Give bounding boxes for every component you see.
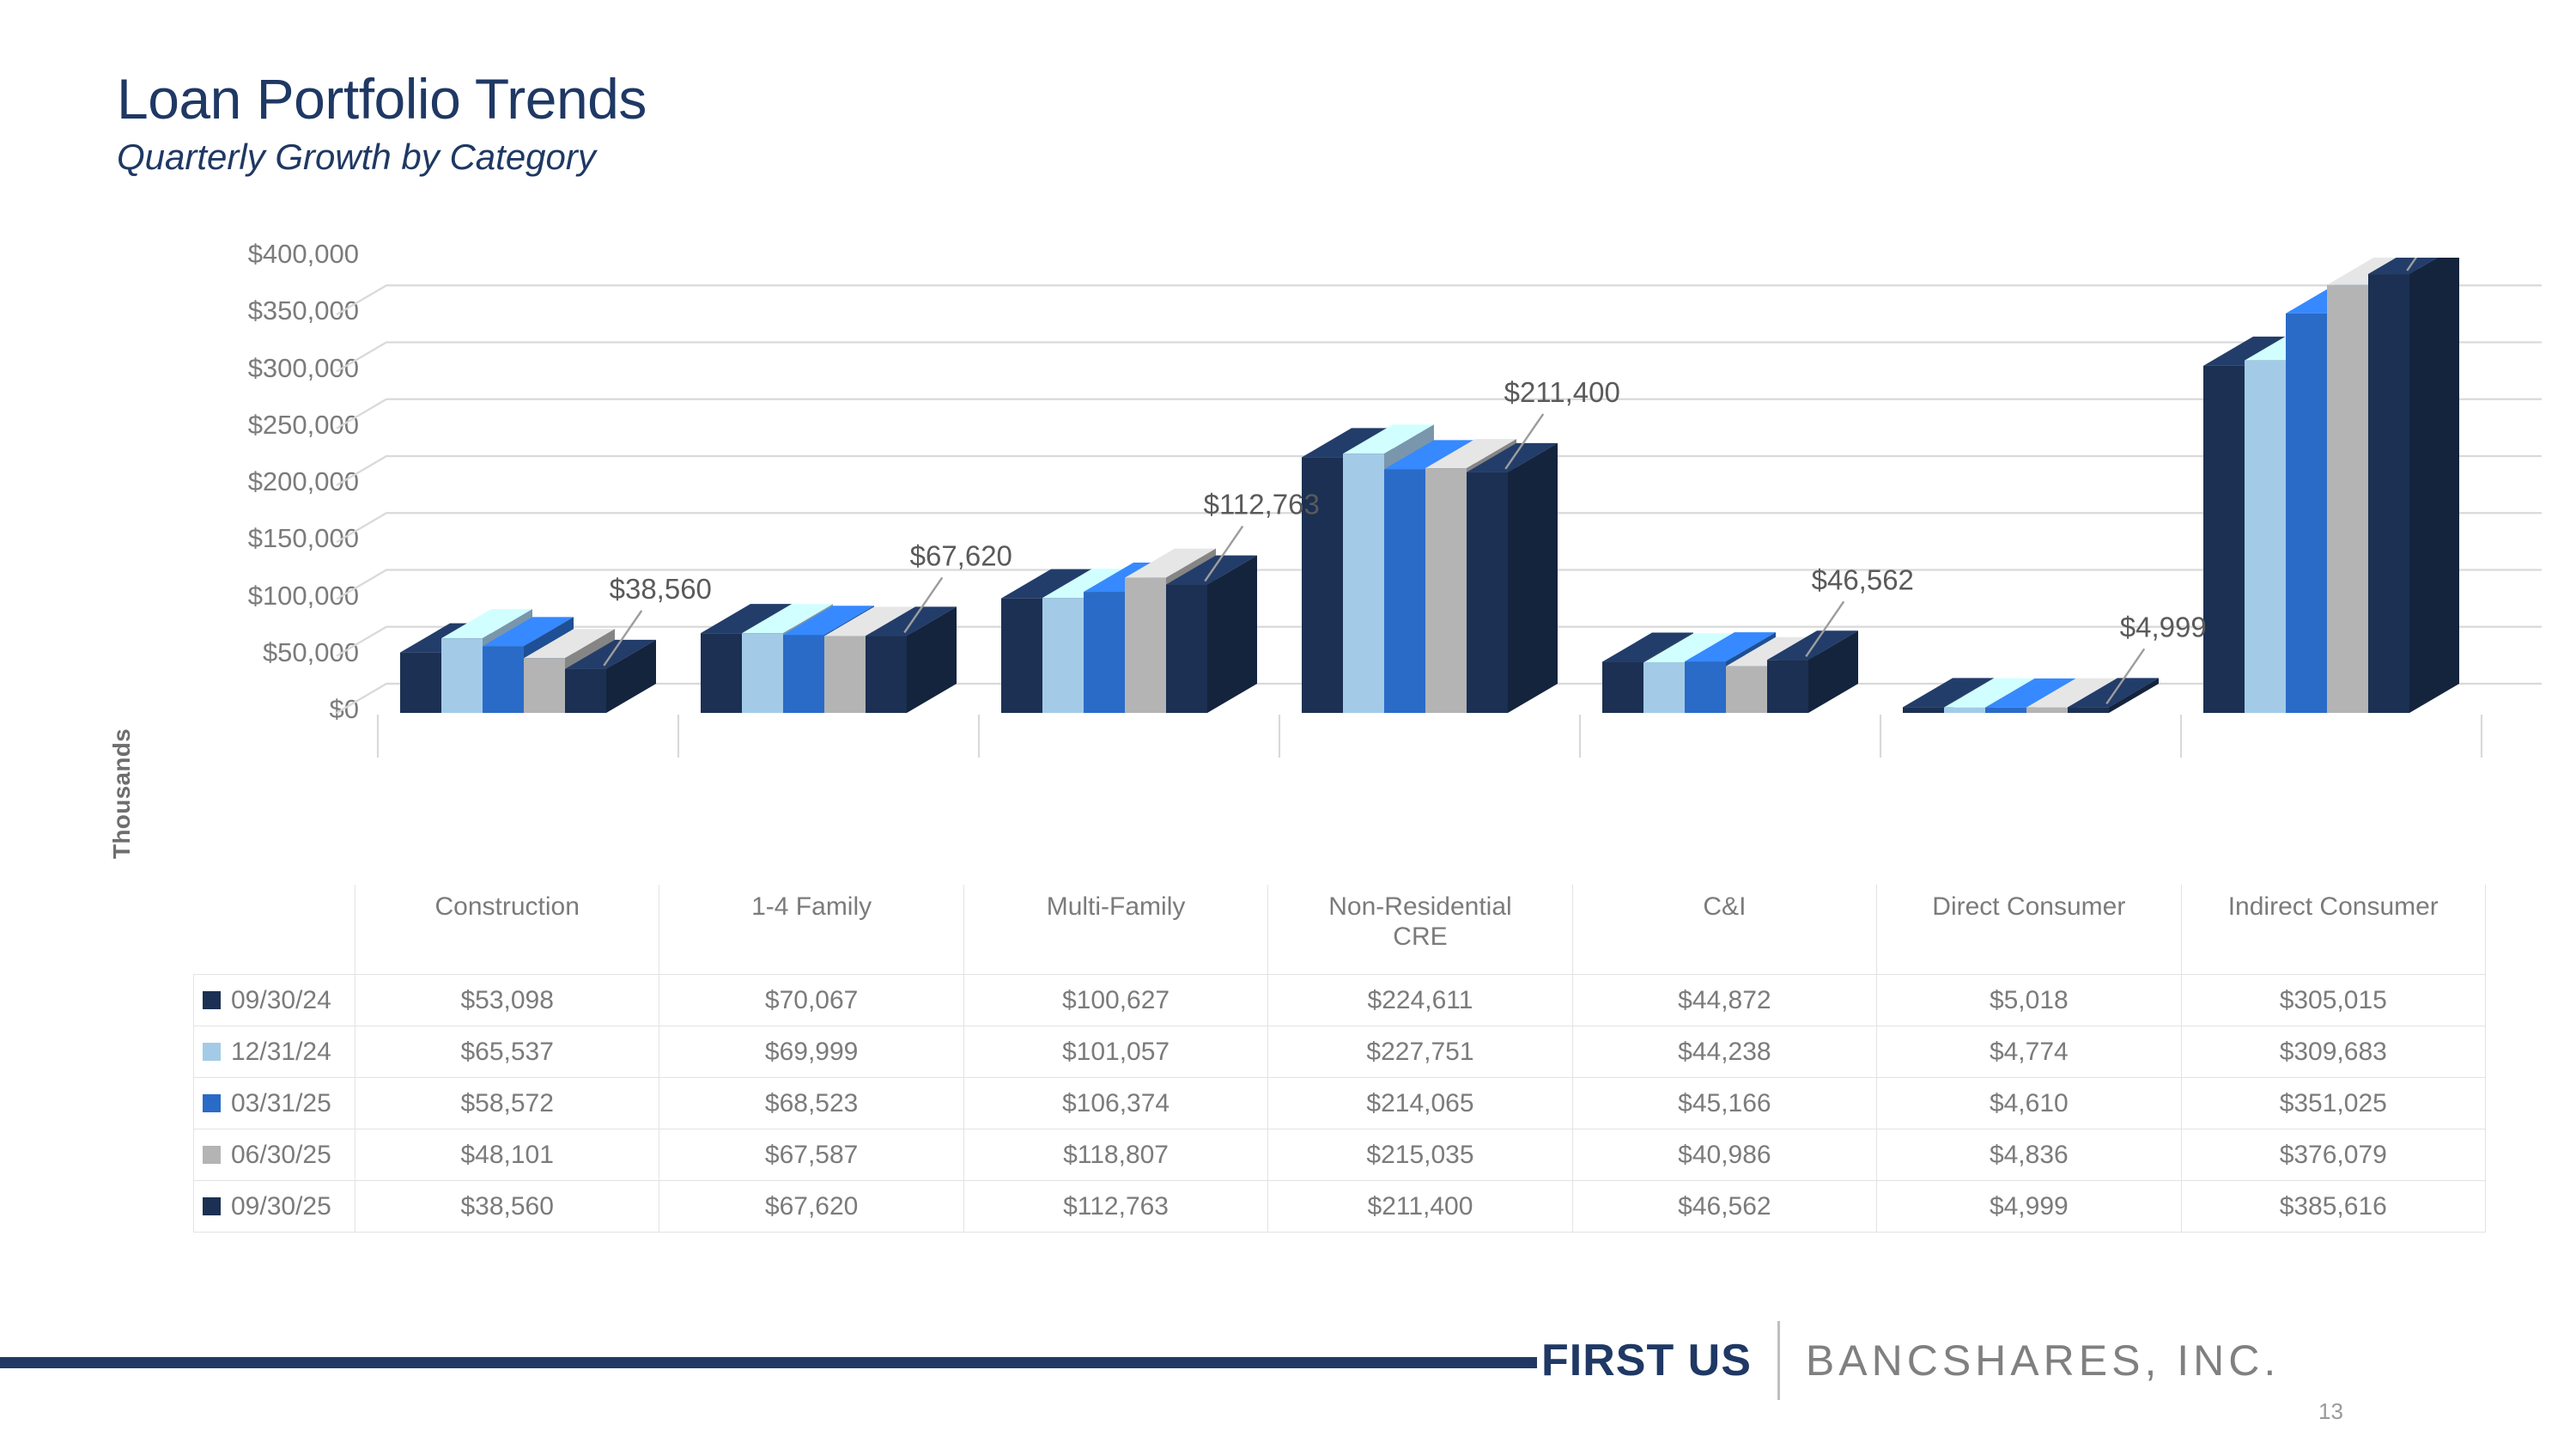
- table-cell-value: $40,986: [1572, 1129, 1876, 1181]
- table-category-header: Construction: [355, 885, 659, 975]
- table-row: 09/30/24$53,098$70,067$100,627$224,611$4…: [194, 975, 2486, 1026]
- bar-value-annotation: $46,562: [1812, 563, 1914, 595]
- table-row: 09/30/25$38,560$67,620$112,763$211,400$4…: [194, 1181, 2486, 1233]
- legend-entry: 09/30/25: [194, 1181, 355, 1233]
- table-cell-value: $4,836: [1877, 1129, 2181, 1181]
- table-cell-value: $376,079: [2181, 1129, 2485, 1181]
- bar-value-annotation: $112,763: [1204, 489, 1320, 521]
- table-cell-value: $65,537: [355, 1026, 659, 1078]
- table-cell-value: $67,587: [659, 1129, 963, 1181]
- table-cell-value: $211,400: [1268, 1181, 1572, 1233]
- table-cell-value: $44,872: [1572, 975, 1876, 1026]
- legend-swatch: [203, 991, 221, 1009]
- table-row: 06/30/25$48,101$67,587$118,807$215,035$4…: [194, 1129, 2486, 1181]
- table-cell-value: $385,616: [2181, 1181, 2485, 1233]
- table-cell-value: $68,523: [659, 1078, 963, 1129]
- table-category-header: Indirect Consumer: [2181, 885, 2485, 975]
- table-cell-value: $4,774: [1877, 1026, 2181, 1078]
- table-category-header: Multi-Family: [963, 885, 1267, 975]
- table-cell-value: $106,374: [963, 1078, 1267, 1129]
- chart-data-table-wrapper: Construction1-4 FamilyMulti-FamilyNon-Re…: [193, 885, 2486, 1233]
- logo-secondary-text: BANCSHARES, INC.: [1780, 1336, 2280, 1385]
- legend-entry: 03/31/25: [194, 1078, 355, 1129]
- table-cell-value: $70,067: [659, 975, 963, 1026]
- title-block: Loan Portfolio Trends Quarterly Growth b…: [117, 70, 647, 175]
- bar-value-annotation: $211,400: [1504, 376, 1620, 408]
- legend-entry: 06/30/25: [194, 1129, 355, 1181]
- legend-label: 06/30/25: [231, 1141, 331, 1170]
- table-cell-value: $215,035: [1268, 1129, 1572, 1181]
- table-corner-cell: [194, 885, 355, 975]
- table-category-header: Direct Consumer: [1877, 885, 2181, 975]
- table-category-row: Construction1-4 FamilyMulti-FamilyNon-Re…: [194, 885, 2486, 975]
- page-title: Loan Portfolio Trends: [117, 70, 647, 127]
- table-cell-value: $214,065: [1268, 1078, 1572, 1129]
- logo-primary-text: FIRST US: [1541, 1335, 1777, 1386]
- page-number: 13: [2318, 1398, 2343, 1425]
- legend-label: 12/31/24: [231, 1038, 331, 1067]
- table-cell-value: $58,572: [355, 1078, 659, 1129]
- table-row: 12/31/24$65,537$69,999$101,057$227,751$4…: [194, 1026, 2486, 1078]
- legend-swatch: [203, 1197, 221, 1215]
- table-cell-value: $100,627: [963, 975, 1267, 1026]
- page-subtitle: Quarterly Growth by Category: [117, 139, 647, 175]
- table-cell-value: $5,018: [1877, 975, 2181, 1026]
- table-cell-value: $69,999: [659, 1026, 963, 1078]
- table-cell-value: $4,999: [1877, 1181, 2181, 1233]
- legend-label: 03/31/25: [231, 1089, 331, 1118]
- company-logo: FIRST US BANCSHARES, INC.: [1541, 1327, 2280, 1394]
- table-cell-value: $46,562: [1572, 1181, 1876, 1233]
- table-cell-value: $53,098: [355, 975, 659, 1026]
- table-cell-value: $351,025: [2181, 1078, 2485, 1129]
- table-cell-value: $118,807: [963, 1129, 1267, 1181]
- legend-entry: 12/31/24: [194, 1026, 355, 1078]
- table-cell-value: $227,751: [1268, 1026, 1572, 1078]
- table-cell-value: $4,610: [1877, 1078, 2181, 1129]
- table-category-header: 1-4 Family: [659, 885, 963, 975]
- chart-gridline: [337, 285, 2542, 314]
- table-cell-value: $45,166: [1572, 1078, 1876, 1129]
- table-category-header: Non-ResidentialCRE: [1268, 885, 1572, 975]
- bar-chart-plot: $38,560$67,620$112,763$211,400$46,562$4,…: [0, 258, 2576, 928]
- legend-swatch: [203, 1094, 221, 1112]
- legend-swatch: [203, 1146, 221, 1164]
- table-cell-value: $305,015: [2181, 975, 2485, 1026]
- table-cell-value: $309,683: [2181, 1026, 2485, 1078]
- table-cell-value: $112,763: [963, 1181, 1267, 1233]
- chart-bar: [2368, 258, 2459, 713]
- table-cell-value: $48,101: [355, 1129, 659, 1181]
- table-cell-value: $44,238: [1572, 1026, 1876, 1078]
- legend-swatch: [203, 1043, 221, 1061]
- legend-label: 09/30/25: [231, 1192, 331, 1221]
- table-cell-value: $224,611: [1268, 975, 1572, 1026]
- table-row: 03/31/25$58,572$68,523$106,374$214,065$4…: [194, 1078, 2486, 1129]
- table-cell-value: $101,057: [963, 1026, 1267, 1078]
- bar-value-annotation: $67,620: [910, 539, 1012, 571]
- bar-value-annotation: $4,999: [2120, 611, 2207, 642]
- table-cell-value: $38,560: [355, 1181, 659, 1233]
- chart-container: Thousands $400,000$350,000$300,000$250,0…: [0, 258, 2576, 928]
- legend-entry: 09/30/24: [194, 975, 355, 1026]
- chart-data-table: Construction1-4 FamilyMulti-FamilyNon-Re…: [193, 885, 2486, 1233]
- table-category-header: C&I: [1572, 885, 1876, 975]
- bar-value-annotation: $38,560: [610, 573, 712, 605]
- chart-bar: [1166, 556, 1257, 713]
- legend-label: 09/30/24: [231, 986, 331, 1015]
- table-cell-value: $67,620: [659, 1181, 963, 1233]
- footer-rule: [0, 1357, 1537, 1368]
- chart-bar: [1467, 443, 1558, 713]
